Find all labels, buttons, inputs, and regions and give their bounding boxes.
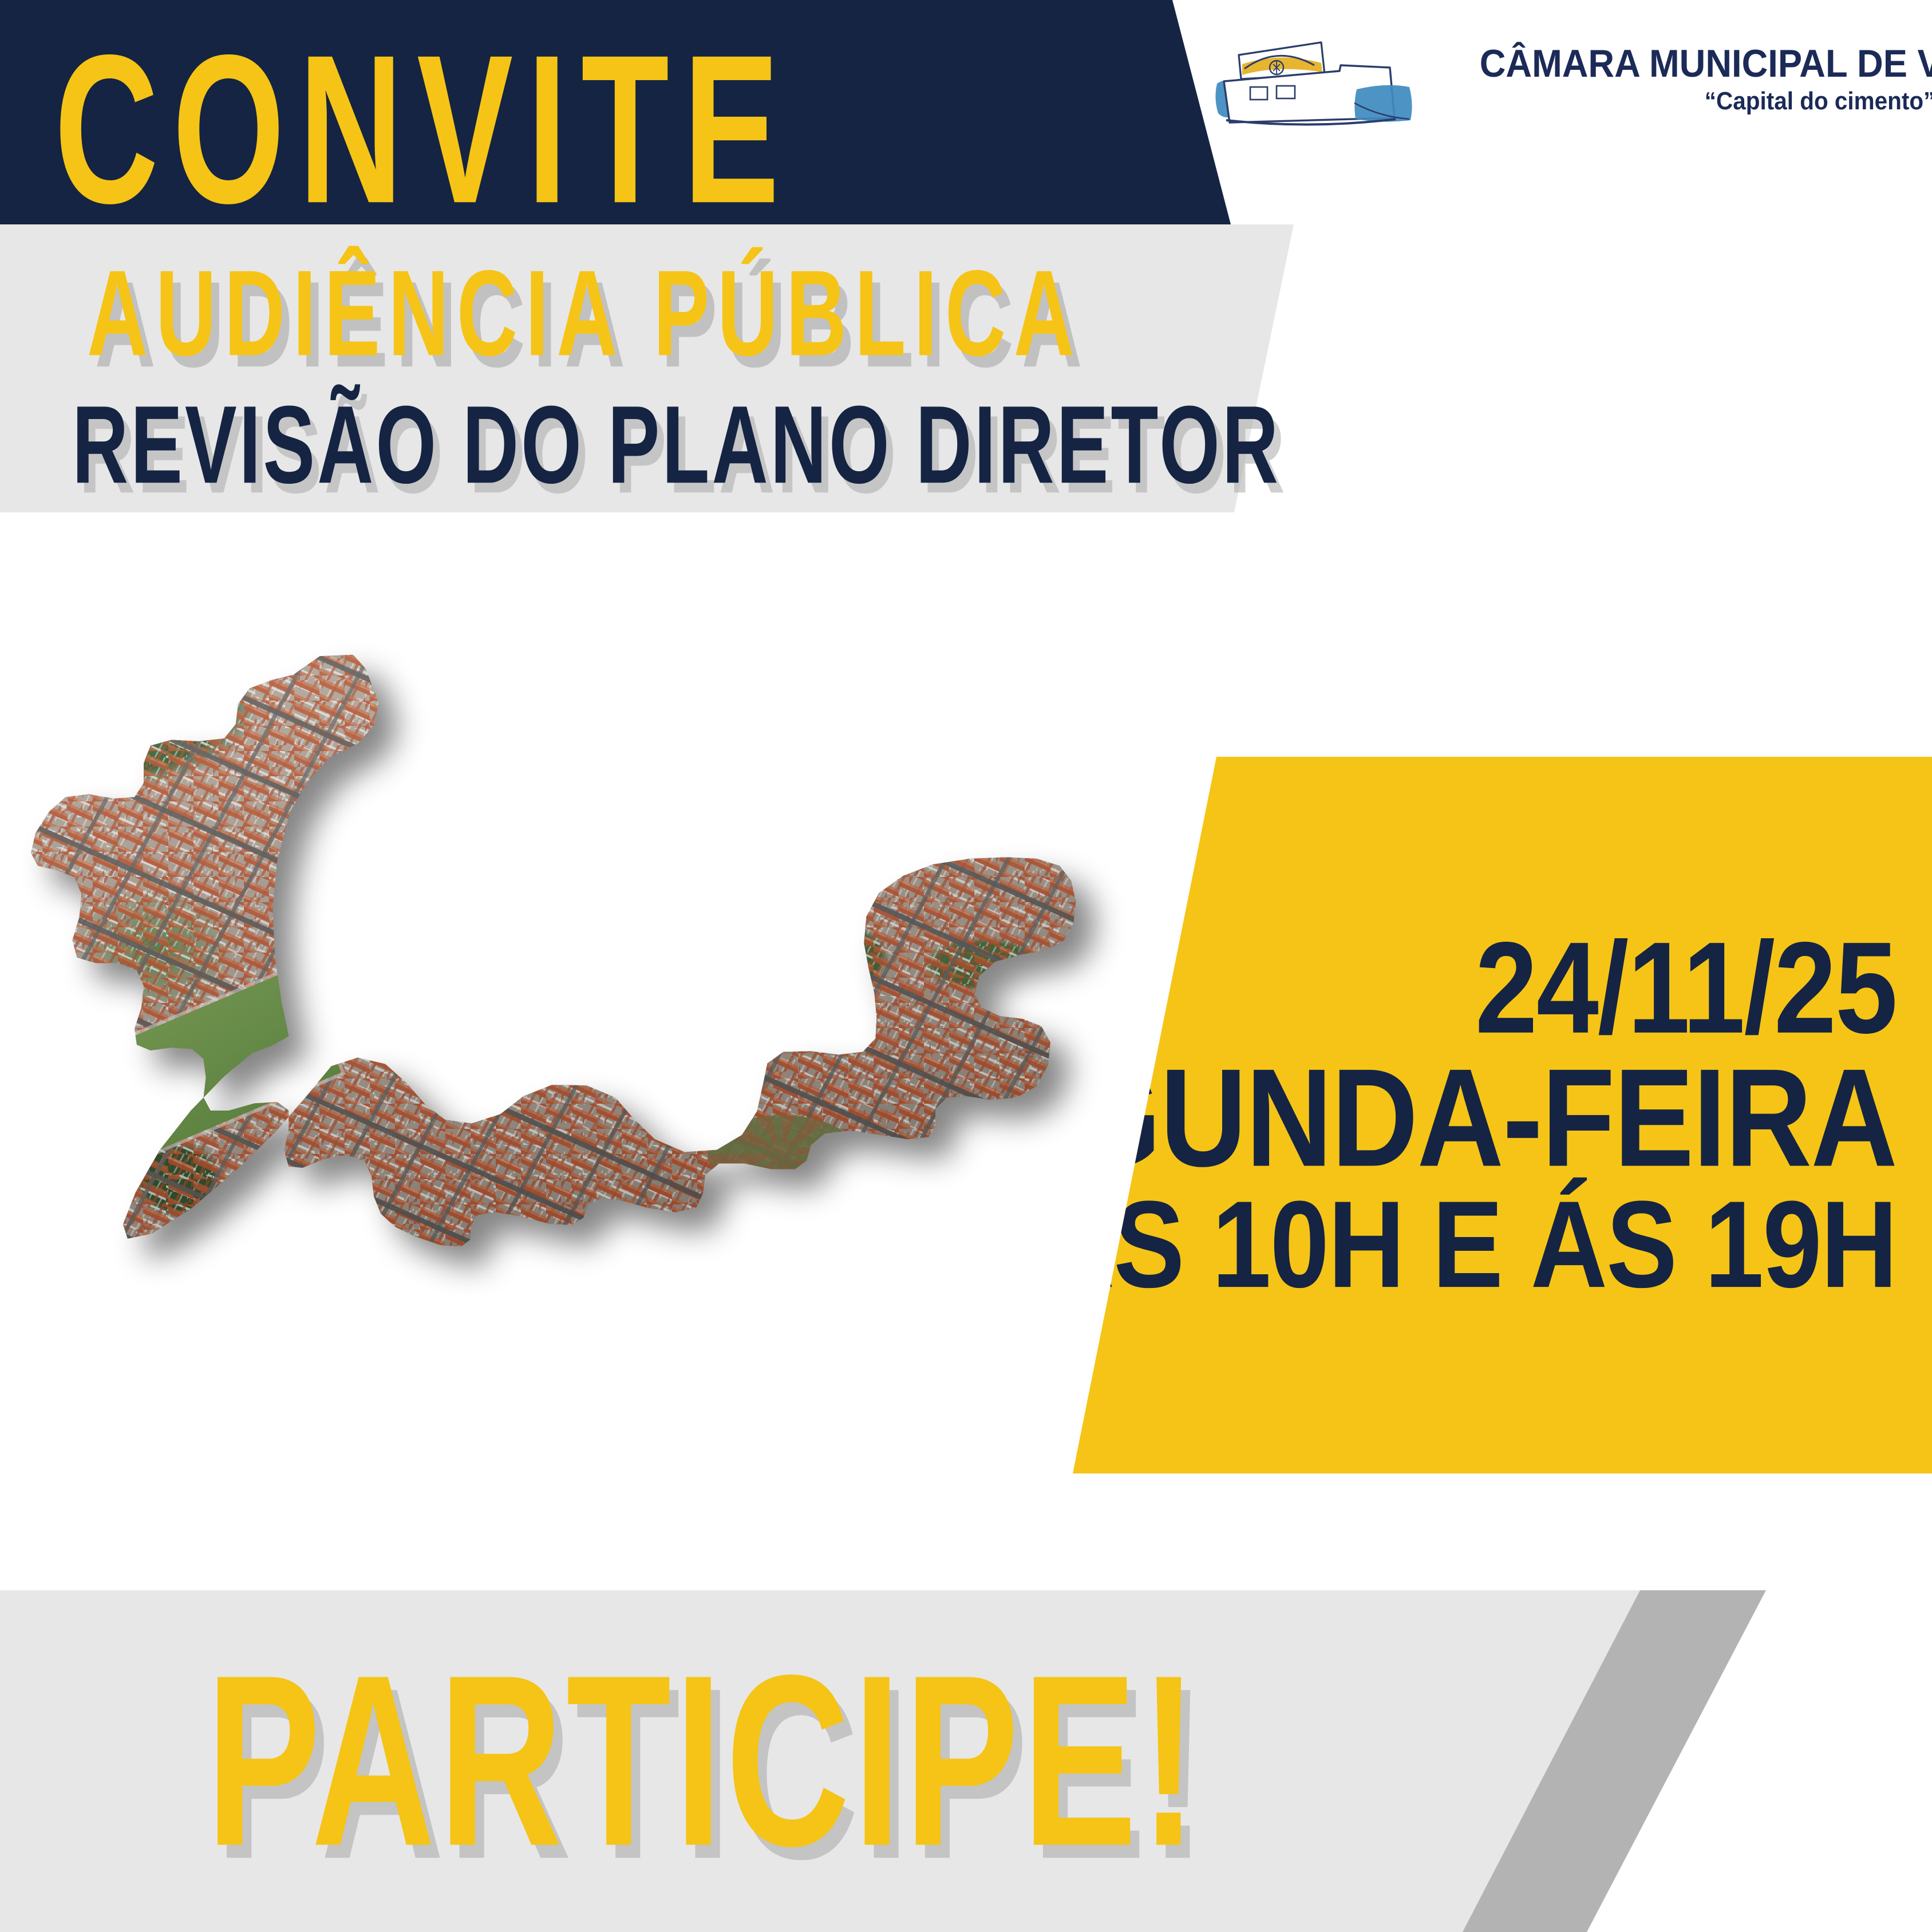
municipality-map bbox=[17, 550, 1168, 1265]
aerial-photo bbox=[17, 550, 1168, 1265]
event-times: ÁS 10H E ÁS 19H bbox=[1038, 1183, 1897, 1307]
event-details-text: 24/11/25 SEGUNDA-FEIRA ÁS 10H E ÁS 19H bbox=[1065, 757, 1932, 1473]
organization-name: CÂMARA MUNICIPAL DE VOTORANTIM bbox=[1480, 44, 1932, 83]
logo-text-block: CÂMARA MUNICIPAL DE VOTORANTIM “Capital … bbox=[1454, 44, 1932, 114]
camara-logo: CÂMARA MUNICIPAL DE VOTORANTIM “Capital … bbox=[1212, 22, 1917, 136]
organization-slogan: “Capital do cimento” bbox=[1483, 89, 1932, 114]
aerial-shading-layer bbox=[17, 550, 1168, 1265]
page-title: CONVITE bbox=[54, 23, 793, 235]
call-to-action: PARTICIPE! bbox=[206, 1638, 1201, 1882]
heading-revisao-plano-diretor: REVISÃO DO PLANO DIRETOR bbox=[72, 389, 1281, 500]
camara-building-sketch-icon bbox=[1212, 22, 1441, 136]
municipality-map-clip bbox=[17, 550, 1168, 1265]
heading-audiencia-publica: AUDIÊNCIA PÚBLICA bbox=[87, 252, 1082, 374]
poster-canvas: CONVITE CÂMARA MUNICIPAL bbox=[0, 0, 1932, 1932]
event-date: 24/11/25 bbox=[1475, 923, 1897, 1053]
event-details-panel: 24/11/25 SEGUNDA-FEIRA ÁS 10H E ÁS 19H bbox=[1065, 757, 1932, 1473]
